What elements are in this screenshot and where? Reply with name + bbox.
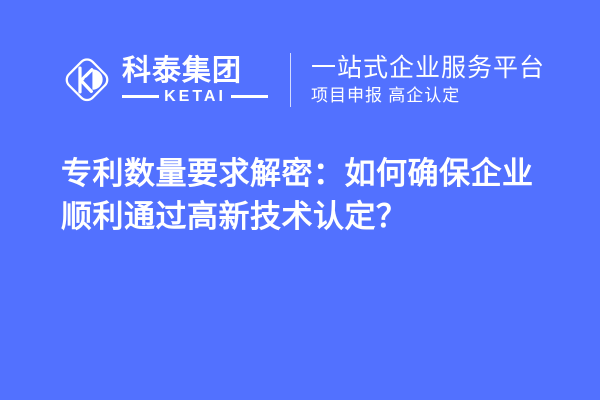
tagline-main: 一站式企业服务平台 [311,54,545,82]
headline-line-1: 专利数量要求解密：如何确保企业 [61,152,571,195]
tagline-block: 一站式企业服务平台 项目申报 高企认定 [311,51,545,109]
brand-lockup: 科泰集团 KETAI 一站式企业服务平台 项目申报 高企认定 [60,48,545,112]
brand-name-en-row: KETAI [122,89,268,105]
brand-name-en: KETAI [159,89,231,105]
ketai-diamond-monogram-icon [60,53,114,107]
headline-line-2: 顺利通过高新技术认定？ [61,195,571,238]
brand-name-cn: 科泰集团 [122,56,268,86]
brand-wordmark: 科泰集团 KETAI [122,51,268,109]
headline: 专利数量要求解密：如何确保企业 顺利通过高新技术认定？ [61,152,571,238]
brand-rule-right [231,95,268,98]
promo-banner: 科泰集团 KETAI 一站式企业服务平台 项目申报 高企认定 专利数量要求解密：… [0,0,600,400]
brand-divider [290,53,291,107]
brand-rule-left [122,95,159,98]
tagline-sub: 项目申报 高企认定 [311,85,545,107]
